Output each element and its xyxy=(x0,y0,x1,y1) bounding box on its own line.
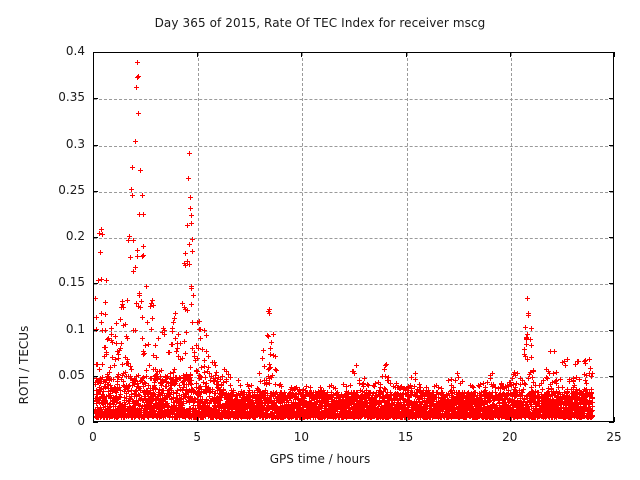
chart-figure: Day 365 of 2015, Rate Of TEC Index for r… xyxy=(0,0,640,480)
